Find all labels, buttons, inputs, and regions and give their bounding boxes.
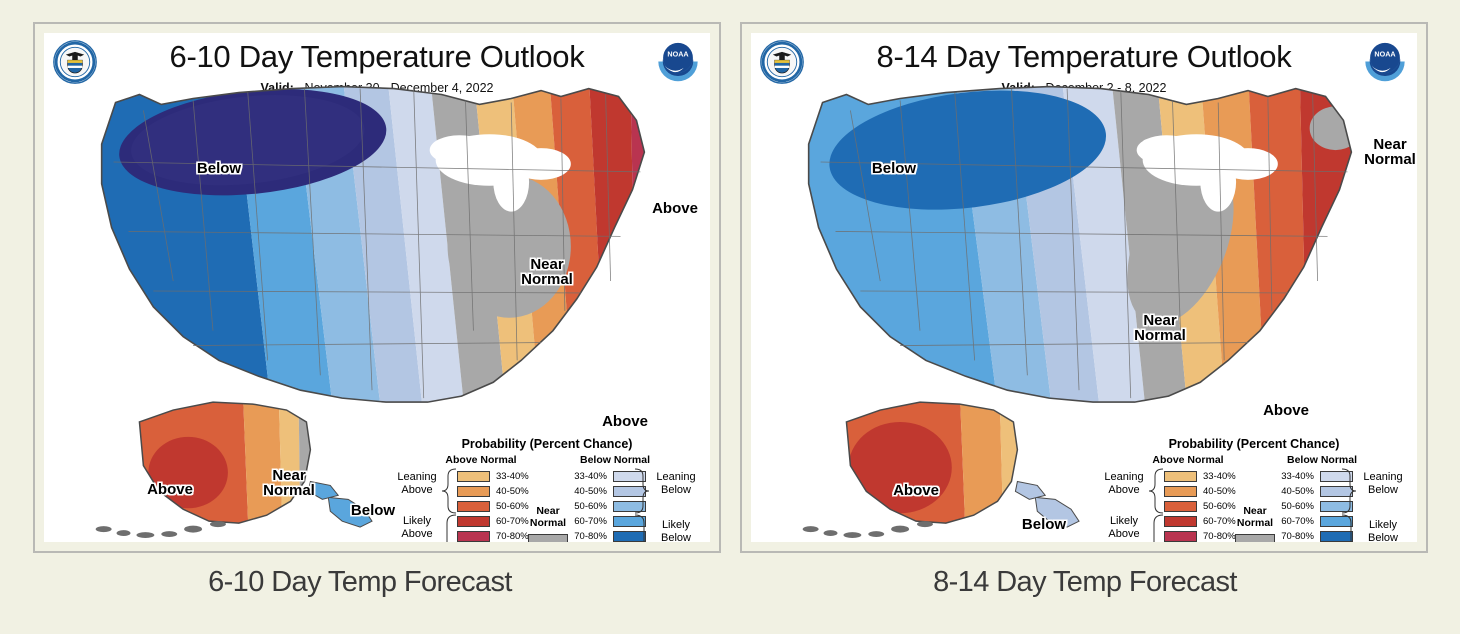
legend-brace-above xyxy=(1149,467,1165,542)
legend-row: 40-50% xyxy=(457,484,534,499)
aleutian-islands xyxy=(96,521,226,538)
legend-brace-above xyxy=(442,467,458,542)
map-card-6-10-day: NOAA 6-10 Day Temperature Outlook Valid:… xyxy=(44,33,710,542)
legend-swatch xyxy=(457,471,490,482)
aleutian-islands xyxy=(803,521,933,538)
legend-leaning-above-label: Leaning Above xyxy=(388,471,446,497)
legend-above-header: Above Normal xyxy=(1136,454,1240,466)
legend-likely-below-label: Likely Below xyxy=(646,519,706,542)
map-panel-6-10-day[interactable]: NOAA 6-10 Day Temperature Outlook Valid:… xyxy=(33,22,721,553)
legend-title: Probability (Percent Chance) xyxy=(397,437,697,451)
legend-likely-above-label: Likely Above xyxy=(388,515,446,541)
legend-row: 33-40% xyxy=(1164,469,1241,484)
legend-leaning-below-label: Leaning Below xyxy=(646,471,706,497)
legend-below-header: Below Normal xyxy=(1270,454,1374,466)
alaska-inset-8-14-day xyxy=(803,390,1079,539)
map-panel-8-14-day[interactable]: NOAA 8-14 Day Temperature Outlook Valid:… xyxy=(740,22,1428,553)
legend-likely-above-label: Likely Above xyxy=(1095,515,1153,541)
legend-brace-below xyxy=(633,467,649,542)
legend-near-normal-label: Near Normal xyxy=(1226,505,1284,529)
legend-brace-below xyxy=(1340,467,1356,542)
legend-range-label: 40-50% xyxy=(1203,486,1236,497)
legend-range-label: 33-40% xyxy=(1272,471,1314,482)
legend-above-header: Above Normal xyxy=(429,454,533,466)
legend-range-label: 33-40% xyxy=(565,471,607,482)
caption-6-10-day: 6-10 Day Temp Forecast xyxy=(0,566,720,599)
legend-near-normal-swatch xyxy=(1235,534,1275,542)
alaska-panhandle xyxy=(1015,481,1079,527)
alaska-inset-6-10-day xyxy=(96,390,372,539)
legend-range-label: 33-40% xyxy=(1203,471,1236,482)
legend-swatch xyxy=(1164,516,1197,527)
legend-title: Probability (Percent Chance) xyxy=(1104,437,1404,451)
legend-swatch xyxy=(1164,486,1197,497)
outlook-page: NOAA 6-10 Day Temperature Outlook Valid:… xyxy=(0,0,1460,634)
legend-range-label: 40-50% xyxy=(496,486,529,497)
caption-8-14-day: 8-14 Day Temp Forecast xyxy=(740,566,1430,599)
probability-legend-8-14-day: Probability (Percent Chance) Above Norma… xyxy=(1104,437,1404,542)
probability-legend-6-10-day: Probability (Percent Chance) Above Norma… xyxy=(397,437,697,542)
legend-leaning-below-label: Leaning Below xyxy=(1353,471,1413,497)
map-card-8-14-day: NOAA 8-14 Day Temperature Outlook Valid:… xyxy=(751,33,1417,542)
legend-below-header: Below Normal xyxy=(563,454,667,466)
legend-swatch xyxy=(457,486,490,497)
legend-near-normal: Near Normal xyxy=(1226,505,1284,542)
legend-swatch xyxy=(457,501,490,512)
legend-range-label: 33-40% xyxy=(496,471,529,482)
legend-range-label: 40-50% xyxy=(1272,486,1314,497)
legend-swatch xyxy=(1164,531,1197,542)
legend-near-normal-swatch xyxy=(528,534,568,542)
legend-range-label: 40-50% xyxy=(565,486,607,497)
legend-swatch xyxy=(1164,501,1197,512)
legend-leaning-above-label: Leaning Above xyxy=(1095,471,1153,497)
legend-near-normal-label: Near Normal xyxy=(519,505,577,529)
alaska-panhandle xyxy=(308,481,372,527)
legend-row: 33-40% xyxy=(457,469,534,484)
legend-row: 40-50% xyxy=(1164,484,1241,499)
legend-swatch xyxy=(1164,471,1197,482)
legend-swatch xyxy=(457,516,490,527)
legend-near-normal: Near Normal xyxy=(519,505,577,542)
legend-likely-below-label: Likely Below xyxy=(1353,519,1413,542)
legend-swatch xyxy=(457,531,490,542)
